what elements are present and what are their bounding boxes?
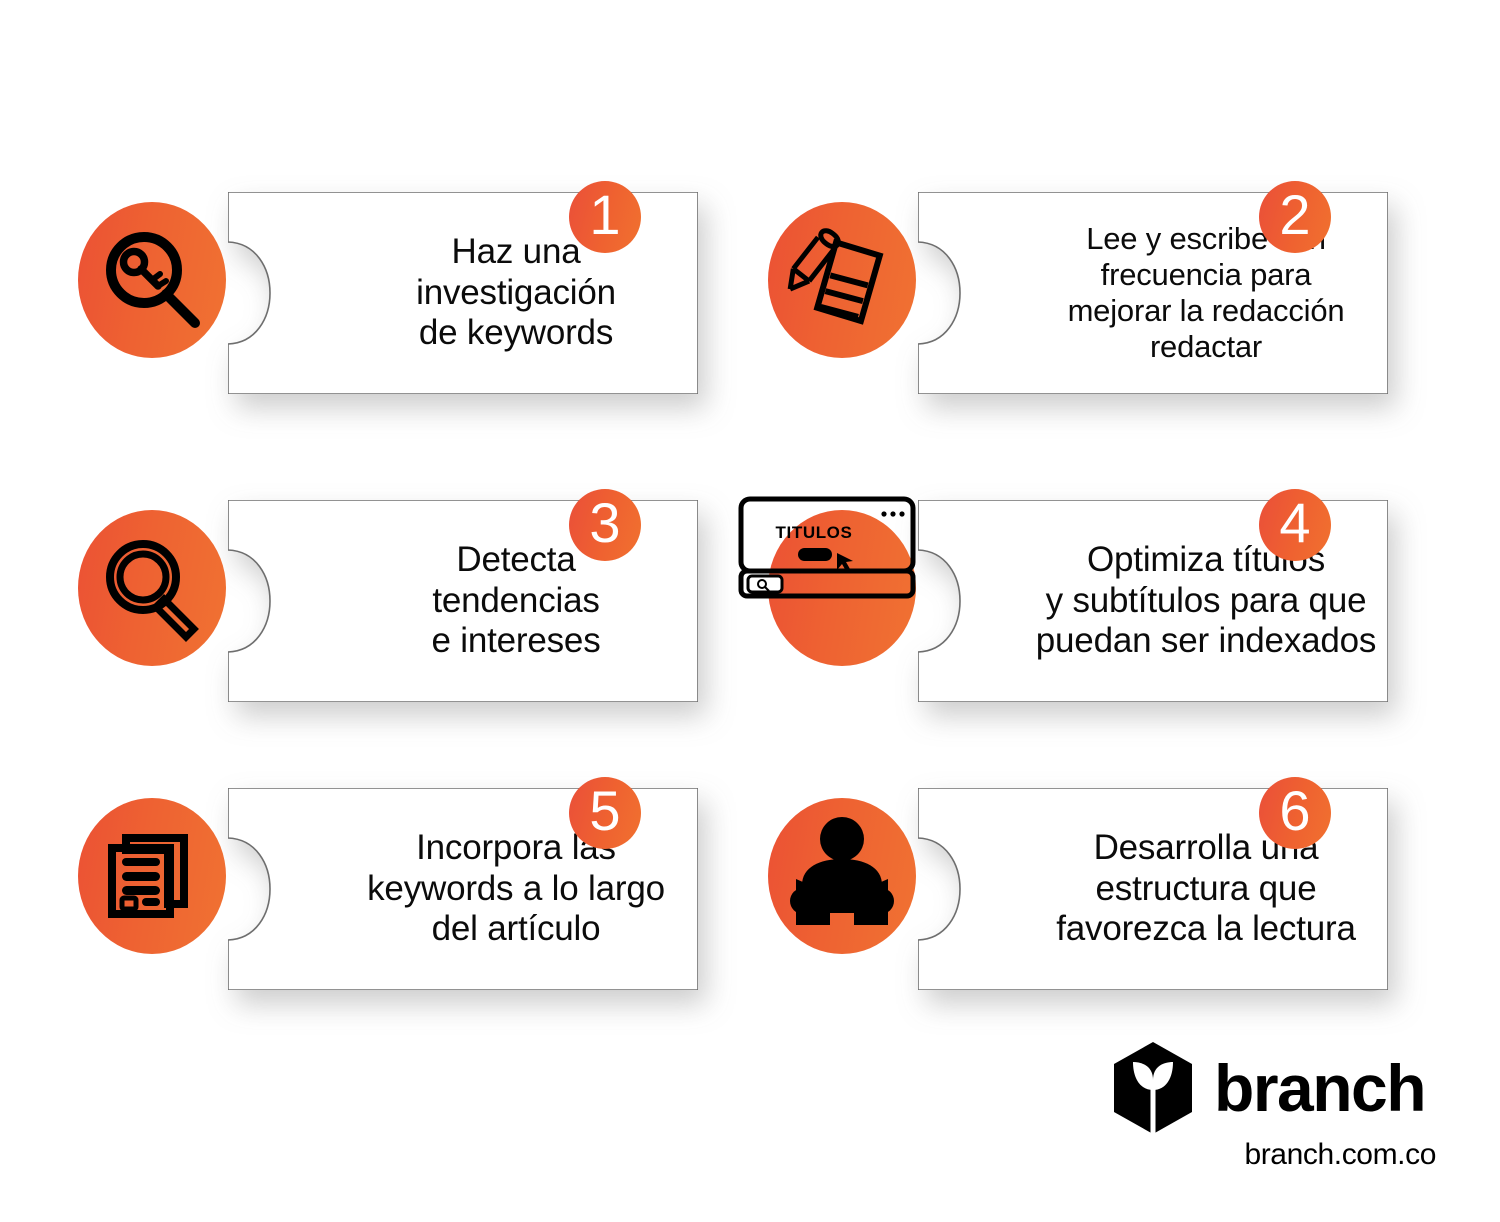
pencil-notepad-icon — [786, 224, 898, 336]
step-card-2: Lee y escribe con frecuencia para mejora… — [768, 170, 1408, 400]
card-line: e intereses — [431, 621, 600, 662]
person-reading-book-icon — [784, 817, 900, 935]
step-card-1: Haz una investigación de keywords 1 — [78, 170, 718, 400]
step-number-text: 3 — [589, 495, 620, 551]
card-line: de keywords — [419, 313, 613, 354]
step-number-text: 4 — [1279, 495, 1310, 551]
magnifier-icon — [96, 532, 208, 644]
step-number-text: 1 — [589, 187, 620, 243]
stacked-documents-icon — [96, 820, 208, 932]
card-line: mejorar la redacción — [1068, 293, 1345, 329]
step-card-4: Optimiza títulos y subtítulos para que p… — [768, 478, 1408, 708]
step-number-text: 5 — [589, 783, 620, 839]
card-line: investigación — [416, 273, 616, 314]
icon-badge-3 — [78, 510, 226, 666]
step-card-3: Detecta tendencias e intereses 3 — [78, 478, 718, 708]
card-line: y subtítulos para que — [1046, 581, 1367, 622]
step-number-badge-4: 4 — [1259, 489, 1331, 561]
card-line: Detecta — [456, 540, 575, 581]
card-line: estructura que — [1096, 869, 1317, 910]
infographic-canvas: Haz una investigación de keywords 1 — [0, 0, 1500, 1222]
magnifier-key-icon — [96, 224, 208, 336]
card-line: puedan ser indexados — [1036, 621, 1376, 662]
icon-badge-2 — [768, 202, 916, 358]
icon-badge-1 — [78, 202, 226, 358]
card-line: keywords a lo largo — [367, 869, 665, 910]
step-number-badge-1: 1 — [569, 181, 641, 253]
browser-window-titles-icon: TITULOS — [738, 496, 916, 600]
website-url: branch.com.co — [1108, 1138, 1438, 1172]
step-number-badge-6: 6 — [1259, 777, 1331, 849]
icon-badge-5 — [78, 798, 226, 954]
branch-logo[interactable]: branch branch.com.co — [1108, 1040, 1438, 1165]
step-number-badge-2: 2 — [1259, 181, 1331, 253]
step-card-6: Desarrolla una estructura que favorezca … — [768, 766, 1408, 996]
step-card-5: Incorpora las keywords a lo largo del ar… — [78, 766, 718, 996]
card-line: Haz una — [452, 232, 581, 273]
card-line: tendencias — [432, 581, 599, 622]
step-number-badge-5: 5 — [569, 777, 641, 849]
step-number-text: 6 — [1279, 783, 1310, 839]
card-line: favorezca la lectura — [1056, 909, 1355, 950]
icon-badge-6 — [768, 798, 916, 954]
card-line: redactar — [1150, 329, 1262, 365]
step-number-text: 2 — [1279, 187, 1310, 243]
card-line: frecuencia para — [1101, 257, 1312, 293]
logo-row: branch — [1108, 1040, 1438, 1136]
step-number-badge-3: 3 — [569, 489, 641, 561]
device-screen-label: TITULOS — [776, 523, 853, 542]
card-line: del artículo — [432, 909, 601, 950]
brand-name: branch — [1214, 1055, 1425, 1121]
hexagon-sprout-logo — [1108, 1040, 1198, 1136]
